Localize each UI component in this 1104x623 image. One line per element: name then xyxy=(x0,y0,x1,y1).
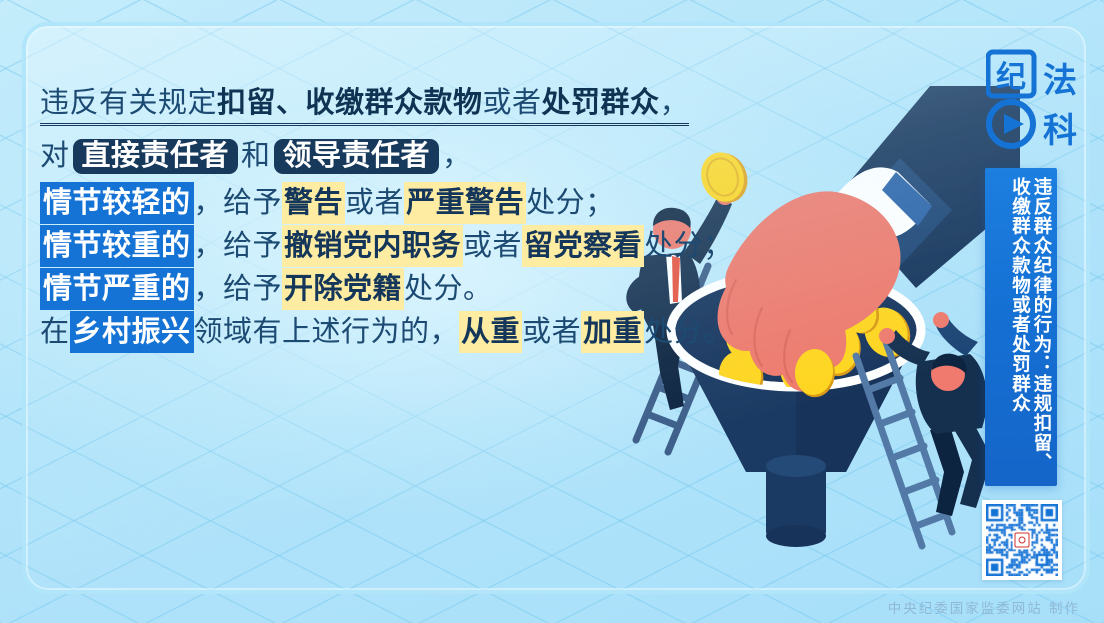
text-line-2: 对直接责任者和领导责任者， xyxy=(40,139,680,174)
text-line-1: 违反有关规定扣留、收缴群众款物或者处罚群众， xyxy=(40,88,689,126)
line4-highlight-yellow-1: 撤销党内职务 xyxy=(282,225,463,267)
line3-tail: 处分； xyxy=(526,185,615,219)
line1-part-bold-2: 处罚群众 xyxy=(542,85,660,119)
infographic-canvas: 违反有关规定扣留、收缴群众款物或者处罚群众， 对直接责任者和领导责任者， 情节较… xyxy=(0,0,1104,623)
line5-tail: 处分。 xyxy=(404,271,493,305)
footer-credit: 中央纪委国家监委网站 制作 xyxy=(888,597,1080,617)
line5-highlight-yellow-1: 开除党籍 xyxy=(282,268,404,310)
pill-direct-responsible: 直接责任者 xyxy=(73,139,239,174)
floating-coin xyxy=(695,146,754,209)
line6-mid-1: 领域有上述行为的， xyxy=(194,314,460,348)
pill-leadership-responsible: 领导责任者 xyxy=(274,139,440,174)
logo-char-ji: 纪 xyxy=(996,60,1026,95)
line3-highlight-blue: 情节较轻的 xyxy=(40,182,194,224)
main-text-block: 违反有关规定扣留、收缴群众款物或者处罚群众， 对直接责任者和领导责任者， 情节较… xyxy=(40,88,680,360)
qr-center-seal xyxy=(1013,531,1032,550)
line6-highlight-blue: 乡村振兴 xyxy=(70,311,194,353)
line4-mid-1: ，给予 xyxy=(194,228,283,262)
line1-part-normal-2: 或者 xyxy=(483,85,542,119)
line3-highlight-yellow-1: 警告 xyxy=(282,182,345,224)
logo-char-fa: 法 xyxy=(1043,61,1077,101)
line6-highlight-yellow-1: 从重 xyxy=(459,311,522,353)
line6-prefix: 在 xyxy=(40,314,70,348)
line5-highlight-blue: 情节严重的 xyxy=(40,268,194,310)
line4-highlight-blue: 情节较重的 xyxy=(40,225,194,267)
line3-mid-2: 或者 xyxy=(345,185,404,219)
line4-tail: 处分； xyxy=(644,228,733,262)
text-line-3: 情节较轻的，给予警告或者严重警告处分； xyxy=(40,188,680,217)
text-line-1-wrapper: 违反有关规定扣留、收缴群众款物或者处罚群众， xyxy=(40,88,680,139)
text-line-4: 情节较重的，给予撤销党内职务或者留党察看处分； xyxy=(40,231,680,260)
line6-tail: 处分。 xyxy=(644,314,733,348)
line2-prefix: 对 xyxy=(40,138,70,172)
line1-part-normal-1: 违反有关规定 xyxy=(40,85,217,119)
line3-mid-1: ，给予 xyxy=(194,185,283,219)
text-line-5: 情节严重的，给予开除党籍处分。 xyxy=(40,274,680,303)
vertical-banner-text: 违反群众纪律的行为：违规扣留、收缴群众款物或者处罚群众 xyxy=(985,168,1057,486)
line6-mid-2: 或者 xyxy=(522,314,581,348)
line4-highlight-yellow-2: 留党察看 xyxy=(522,225,644,267)
text-line-6: 在乡村振兴领域有上述行为的，从重或者加重处分。 xyxy=(40,317,680,346)
logo-char-ke: 科 xyxy=(1043,111,1077,151)
line5-mid-1: ，给予 xyxy=(194,271,283,305)
line2-suffix: ， xyxy=(442,138,472,172)
line1-part-bold-1: 扣留、收缴群众款物 xyxy=(217,85,483,119)
line1-part-comma: ， xyxy=(660,85,690,119)
qr-code[interactable] xyxy=(982,500,1062,580)
vertical-title-banner: 违反群众纪律的行为：违规扣留、收缴群众款物或者处罚群众 xyxy=(985,168,1057,486)
line4-mid-2: 或者 xyxy=(463,228,522,262)
brand-logo-jifa-baike[interactable]: 纪 法 科 xyxy=(986,48,1082,152)
line3-highlight-yellow-2: 严重警告 xyxy=(404,182,526,224)
line6-highlight-yellow-2: 加重 xyxy=(581,311,644,353)
line2-middle: 和 xyxy=(241,138,271,172)
play-icon xyxy=(1004,114,1024,134)
